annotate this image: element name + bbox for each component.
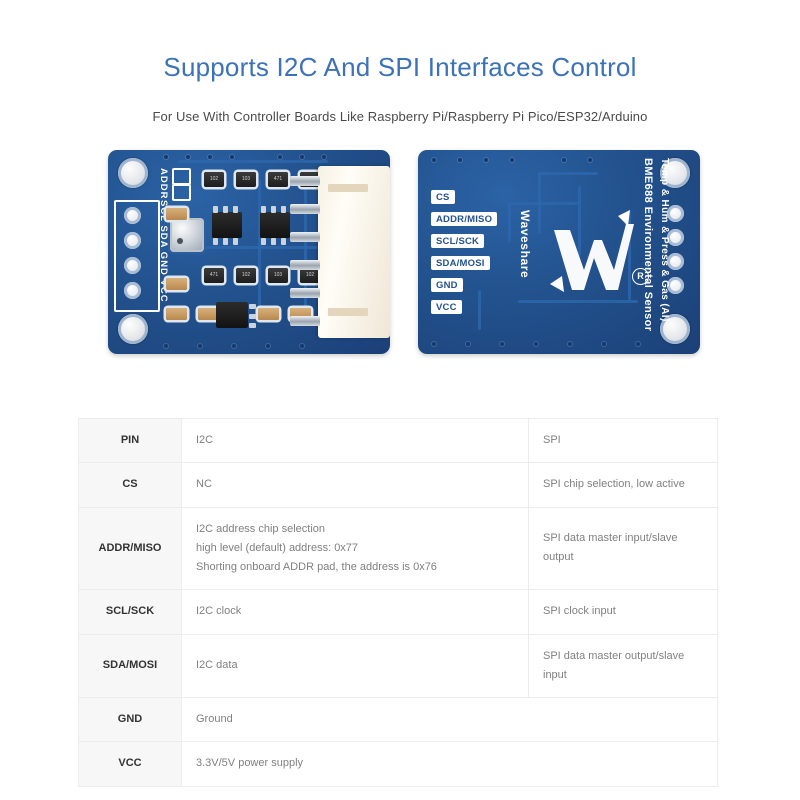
table-row: PINI2CSPI: [79, 419, 718, 463]
product-images: SCL SDA GND VCC ADDR 102 103 471 102 471…: [0, 138, 800, 368]
waveshare-logo: [544, 206, 634, 298]
smd-resistor: 102: [236, 268, 256, 283]
product-name-silkscreen: BME688 Environmental Sensor: [642, 158, 654, 331]
pin-label-scl-sck: SCL/SCK: [431, 234, 484, 248]
addr-pad: [172, 168, 191, 185]
cell-line: I2C address chip selection: [196, 520, 514, 539]
pcb-trace: [538, 172, 598, 175]
table-row: VCC3.3V/5V power supply: [79, 742, 718, 786]
silkscreen-addr-label: ADDR: [158, 168, 169, 199]
pin-name-cell: CS: [79, 463, 182, 507]
pin-label-vcc: VCC: [431, 300, 462, 314]
connector-slot: [328, 308, 368, 316]
smd-resistor: 471: [204, 268, 224, 283]
smd-capacitor: [166, 308, 187, 320]
i2c-description-cell: I2C clock: [182, 590, 529, 634]
pcb-back-image: CS ADDR/MISO SCL/SCK SDA/MOSI GND VCC Wa…: [418, 150, 700, 354]
mounting-hole: [118, 158, 148, 188]
spi-description-cell: SPI: [529, 419, 718, 463]
pin-name-cell: ADDR/MISO: [79, 507, 182, 590]
table-row: SCL/SCKI2C clockSPI clock input: [79, 590, 718, 634]
smd-resistor: 103: [268, 268, 288, 283]
pin-label-addr-miso: ADDR/MISO: [431, 212, 497, 226]
spi-description-cell: SPI chip selection, low active: [529, 463, 718, 507]
table-row: GNDGround: [79, 698, 718, 742]
page-header: Supports I2C And SPI Interfaces Control …: [0, 0, 800, 124]
pcb-trace: [518, 300, 638, 303]
cell-line: Shorting onboard ADDR pad, the address i…: [196, 558, 514, 577]
page-subtitle: For Use With Controller Boards Like Rasp…: [0, 109, 800, 124]
pin-name-cell: VCC: [79, 742, 182, 786]
pcb-trace: [304, 180, 307, 320]
i2c-description-cell: I2C: [182, 419, 529, 463]
smd-resistor: 102: [300, 268, 320, 283]
spi-description-cell: SPI clock input: [529, 590, 718, 634]
table-row: SDA/MOSII2C dataSPI data master output/s…: [79, 634, 718, 698]
pcb-trace: [508, 202, 578, 205]
i2c-description-cell: 3.3V/5V power supply: [182, 742, 718, 786]
jst-connector: [318, 166, 390, 338]
i2c-description-cell: NC: [182, 463, 529, 507]
pin-name-cell: PIN: [79, 419, 182, 463]
spi-description-cell: SPI data master input/slave output: [529, 507, 718, 590]
addr-pad: [172, 184, 191, 201]
smd-resistor: 102: [204, 172, 224, 187]
smd-capacitor: [166, 208, 187, 220]
smd-resistor: 471: [268, 172, 288, 187]
level-shifter-ic: [260, 212, 290, 238]
i2c-description-cell: I2C data: [182, 634, 529, 698]
pin-label-gnd: GND: [431, 278, 463, 292]
connector-pin: [290, 316, 320, 326]
smd-capacitor: [166, 278, 187, 290]
connector-pin: [290, 260, 320, 270]
pin-name-cell: SCL/SCK: [79, 590, 182, 634]
cell-line: Ground: [196, 710, 703, 729]
connector-pin: [290, 232, 320, 242]
smd-resistor: 103: [236, 172, 256, 187]
cell-line: I2C: [196, 431, 514, 450]
cell-line: high level (default) address: 0x77: [196, 539, 514, 558]
cell-line: I2C data: [196, 656, 514, 675]
table-row: ADDR/MISOI2C address chip selectionhigh …: [79, 507, 718, 590]
level-shifter-ic: [212, 212, 242, 238]
cell-line: NC: [196, 475, 514, 494]
smd-capacitor: [258, 308, 279, 320]
table-row: CSNCSPI chip selection, low active: [79, 463, 718, 507]
i2c-description-cell: Ground: [182, 698, 718, 742]
bme688-sensor-chip: [170, 218, 204, 252]
sensor-vent-hole: [177, 238, 183, 244]
connector-pin: [290, 288, 320, 298]
connector-pin: [290, 176, 320, 186]
pin-name-cell: GND: [79, 698, 182, 742]
regulator-ic: [216, 302, 248, 328]
pin-definition-table: PINI2CSPICSNCSPI chip selection, low act…: [78, 418, 718, 787]
mounting-hole: [118, 314, 148, 344]
i2c-description-cell: I2C address chip selectionhigh level (de…: [182, 507, 529, 590]
connector-slot: [328, 184, 368, 192]
pcb-trace: [178, 160, 328, 163]
pcb-front-image: SCL SDA GND VCC ADDR 102 103 471 102 471…: [108, 150, 390, 354]
connector-pin: [290, 204, 320, 214]
cell-line: I2C clock: [196, 602, 514, 621]
cell-line: 3.3V/5V power supply: [196, 754, 703, 773]
product-features-silkscreen: Temp & Hum & Press & Gas (AI): [659, 158, 670, 322]
pin-name-cell: SDA/MOSI: [79, 634, 182, 698]
pin-label-sda-mosi: SDA/MOSI: [431, 256, 490, 270]
brand-name-silkscreen: Waveshare: [518, 210, 532, 278]
spi-description-cell: SPI data master output/slave input: [529, 634, 718, 698]
pcb-trace: [478, 290, 481, 330]
pin-label-cs: CS: [431, 190, 455, 204]
page-title: Supports I2C And SPI Interfaces Control: [0, 52, 800, 83]
pcb-trace: [508, 202, 511, 242]
pcb-trace: [258, 180, 261, 320]
